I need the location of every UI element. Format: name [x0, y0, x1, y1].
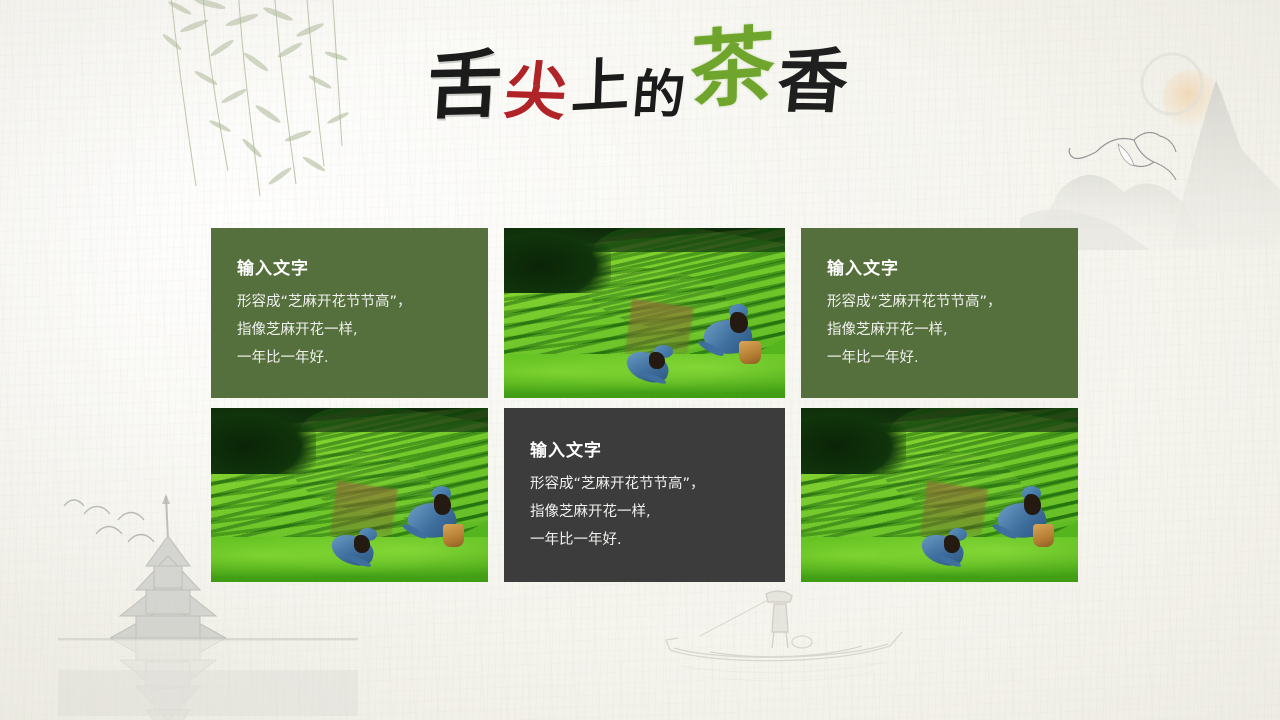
- title-char-2: 尖: [501, 60, 574, 124]
- tea-picker-right: [695, 303, 768, 371]
- slide-canvas: 舌尖上的茶香 输入文字 形容成“芝麻开花节节高”， 指像芝麻开花一样, 一年比一…: [0, 0, 1280, 720]
- photo-card-3[interactable]: [801, 408, 1078, 582]
- title-char-3: 上: [570, 55, 634, 116]
- title-char-5: 茶: [690, 23, 780, 113]
- card-body: 形容成“芝麻开花节节高”， 指像芝麻开花一样, 一年比一年好.: [827, 288, 1078, 373]
- ink-fisherman-boat-icon: [640, 588, 920, 708]
- photo-dark-trees: [504, 228, 611, 293]
- card-title: 输入文字: [530, 436, 785, 461]
- card-line: 一年比一年好.: [237, 344, 488, 372]
- card-body: 形容成“芝麻开花节节高”， 指像芝麻开花一样, 一年比一年好.: [530, 470, 785, 555]
- tea-picker-right: [399, 485, 471, 555]
- card-line: 指像芝麻开花一样,: [530, 498, 785, 526]
- text-card-2[interactable]: 输入文字 形容成“芝麻开花节节高”， 指像芝麻开花一样, 一年比一年好.: [801, 228, 1078, 398]
- title-char-6: 香: [774, 46, 855, 117]
- tea-picker-left: [327, 519, 388, 571]
- card-title: 输入文字: [827, 254, 1078, 279]
- content-grid: 输入文字 形容成“芝麻开花节节高”， 指像芝麻开花一样, 一年比一年好.: [211, 228, 1077, 582]
- text-card-1[interactable]: 输入文字 形容成“芝麻开花节节高”， 指像芝麻开花一样, 一年比一年好.: [211, 228, 488, 398]
- photo-card-1[interactable]: [504, 228, 785, 398]
- title-calligraphy: 舌尖上的茶香: [425, 32, 855, 125]
- card-line: 一年比一年好.: [827, 344, 1078, 372]
- card-title: 输入文字: [237, 254, 488, 279]
- card-body: 形容成“芝麻开花节节高”， 指像芝麻开花一样, 一年比一年好.: [237, 288, 488, 373]
- card-line: 形容成“芝麻开花节节高”，: [530, 470, 785, 498]
- card-line: 形容成“芝麻开花节节高”，: [237, 288, 488, 316]
- page-title: 舌尖上的茶香: [0, 36, 1280, 120]
- card-line: 指像芝麻开花一样,: [827, 316, 1078, 344]
- photo-dark-trees: [211, 408, 316, 474]
- title-char-1: 舌: [425, 48, 508, 124]
- tea-picker-left: [917, 519, 978, 571]
- tea-picker-right: [989, 485, 1061, 555]
- text-card-3[interactable]: 输入文字 形容成“芝麻开花节节高”， 指像芝麻开花一样, 一年比一年好.: [504, 408, 785, 582]
- tea-picker-left: [622, 337, 684, 388]
- photo-card-2[interactable]: [211, 408, 488, 582]
- card-line: 形容成“芝麻开花节节高”，: [827, 288, 1078, 316]
- title-char-4: 的: [631, 69, 691, 121]
- card-line: 指像芝麻开花一样,: [237, 316, 488, 344]
- photo-dark-trees: [801, 408, 906, 474]
- card-line: 一年比一年好.: [530, 526, 785, 554]
